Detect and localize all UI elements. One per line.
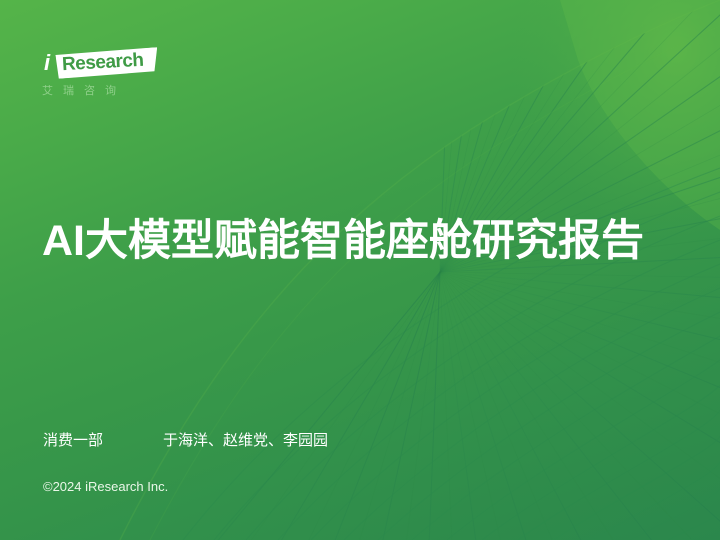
byline-department: 消费一部 — [43, 431, 163, 451]
byline-authors: 于海洋、赵维党、李园园 — [163, 431, 328, 451]
byline: 消费一部于海洋、赵维党、李园园 — [43, 431, 328, 451]
logo-chinese-name: 艾瑞咨询 — [42, 82, 126, 98]
cover-slide: i Research 艾瑞咨询 AI大模型赋能智能座舱研究报告 消费一部于海洋、… — [0, 0, 720, 540]
copyright-notice: ©2024 iResearch Inc. — [43, 478, 168, 496]
iresearch-logo: i Research 艾瑞咨询 — [40, 46, 160, 104]
logo-i-mark: i — [44, 52, 49, 74]
report-title: AI大模型赋能智能座舱研究报告 — [42, 215, 682, 267]
